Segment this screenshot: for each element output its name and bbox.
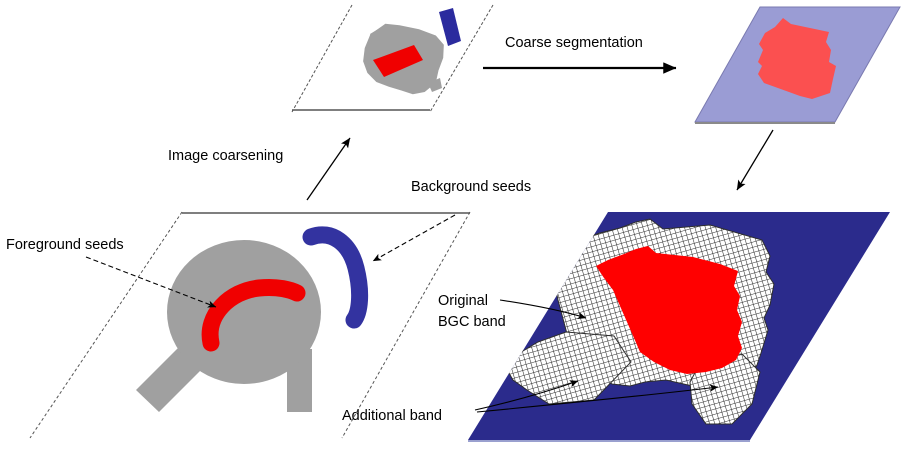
pipeline-diagram: Image coarsening Coarse segmentation Bac… <box>0 0 905 453</box>
label-original-bgc-band-line1: Original <box>438 293 488 309</box>
label-background-seeds: Background seeds <box>411 179 531 195</box>
coarsened-image-plane <box>292 5 493 112</box>
arrow-refinement <box>737 130 773 190</box>
magnifier-disc <box>167 240 321 384</box>
label-coarse-segmentation: Coarse segmentation <box>505 35 643 51</box>
diagram-canvas: Image coarsening Coarse segmentation Bac… <box>0 0 905 453</box>
label-original-bgc-band-line2: BGC band <box>438 314 506 330</box>
arrow-image-coarsening <box>307 138 350 200</box>
coarse-segmentation-plane <box>695 7 900 123</box>
label-additional-band: Additional band <box>342 408 442 424</box>
label-image-coarsening: Image coarsening <box>168 148 283 164</box>
label-foreground-seeds: Foreground seeds <box>6 237 124 253</box>
